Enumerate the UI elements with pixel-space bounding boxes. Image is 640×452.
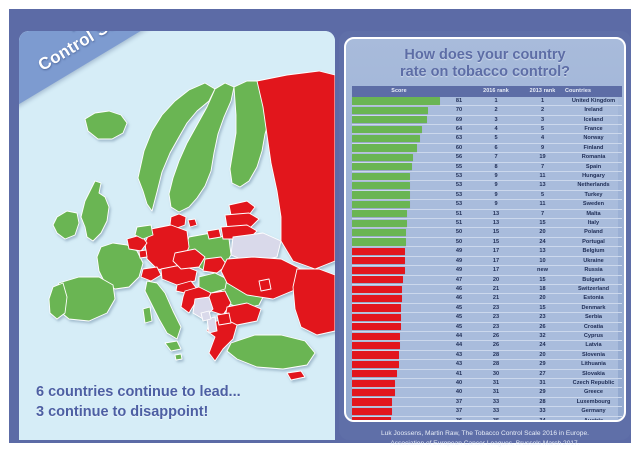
rank-2013-value: 24 bbox=[520, 341, 565, 350]
country-switzerland bbox=[141, 267, 161, 281]
score-value: 55 bbox=[446, 162, 472, 171]
rank-2013-value: 7 bbox=[520, 209, 565, 218]
rank-2013-value: 7 bbox=[520, 162, 565, 171]
country-name: Spain bbox=[565, 162, 622, 171]
country-name: Croatia bbox=[565, 322, 622, 331]
score-bar-cell bbox=[352, 256, 446, 265]
country-sardinia bbox=[143, 307, 152, 323]
table-row: 501524Portugal bbox=[352, 237, 622, 246]
rank-2013-value: 32 bbox=[520, 331, 565, 340]
rank-2016-value: 8 bbox=[472, 162, 520, 171]
table-row: 5587Spain bbox=[352, 162, 622, 171]
country-name: Greece bbox=[565, 388, 622, 397]
score-value: 49 bbox=[446, 256, 472, 265]
score-bar-cell bbox=[352, 407, 446, 416]
rank-2016-value: 20 bbox=[472, 275, 520, 284]
table-header-row: Score 2016 rank 2013 rank Countries bbox=[352, 86, 622, 97]
score-value: 51 bbox=[446, 209, 472, 218]
score-bar bbox=[352, 191, 410, 198]
ranking-table-wrapper: Score 2016 rank 2013 rank Countries 8111… bbox=[352, 86, 618, 422]
score-value: 53 bbox=[446, 172, 472, 181]
rank-2016-value: 31 bbox=[472, 378, 520, 387]
score-value: 45 bbox=[446, 303, 472, 312]
table-body: 8111United Kingdom7022Ireland6933Iceland… bbox=[352, 97, 622, 422]
country-name: Hungary bbox=[565, 172, 622, 181]
table-row: 511315Italy bbox=[352, 219, 622, 228]
table-header: Score 2016 rank 2013 rank Countries bbox=[352, 86, 622, 97]
country-name: Latvia bbox=[565, 341, 622, 350]
country-portugal bbox=[49, 283, 67, 319]
score-value: 37 bbox=[446, 397, 472, 406]
score-value: 43 bbox=[446, 360, 472, 369]
score-bar-cell bbox=[352, 209, 446, 218]
score-value: 64 bbox=[446, 125, 472, 134]
score-value: 49 bbox=[446, 266, 472, 275]
country-name: Portugal bbox=[565, 237, 622, 246]
score-bar-cell bbox=[352, 284, 446, 293]
score-bar-cell bbox=[352, 143, 446, 152]
table-row: 6069Finland bbox=[352, 143, 622, 152]
table-row: 491710Ukraine bbox=[352, 256, 622, 265]
rank-2013-value: new bbox=[520, 266, 565, 275]
rank-2016-value: 23 bbox=[472, 303, 520, 312]
country-name: Estonia bbox=[565, 294, 622, 303]
score-bar-cell bbox=[352, 237, 446, 246]
country-name: Denmark bbox=[565, 303, 622, 312]
country-name: Germany bbox=[565, 407, 622, 416]
country-macedonia bbox=[217, 313, 231, 325]
country-name: Czech Republic bbox=[565, 378, 622, 387]
score-value: 46 bbox=[446, 294, 472, 303]
rank-2013-value: 9 bbox=[520, 143, 565, 152]
rank-2016-value: 9 bbox=[472, 200, 520, 209]
score-value: 36 bbox=[446, 416, 472, 422]
score-bar-cell bbox=[352, 228, 446, 237]
table-row: 56719Romania bbox=[352, 153, 622, 162]
rank-2013-value: 34 bbox=[520, 416, 565, 422]
country-name: United Kingdom bbox=[565, 97, 622, 106]
rank-2013-value: 29 bbox=[520, 360, 565, 369]
score-value: 63 bbox=[446, 134, 472, 143]
rank-2016-value: 31 bbox=[472, 388, 520, 397]
country-name: Ireland bbox=[565, 106, 622, 115]
rank-2013-value: 24 bbox=[520, 237, 565, 246]
table-row: 6354Norway bbox=[352, 134, 622, 143]
rank-2016-value: 30 bbox=[472, 369, 520, 378]
score-bar-cell bbox=[352, 294, 446, 303]
rank-2016-value: 33 bbox=[472, 397, 520, 406]
score-bar bbox=[352, 286, 402, 293]
rank-2013-value: 19 bbox=[520, 153, 565, 162]
rank-2016-value: 15 bbox=[472, 237, 520, 246]
table-row: 5395Turkey bbox=[352, 190, 622, 199]
score-bar-cell bbox=[352, 369, 446, 378]
country-ireland bbox=[53, 211, 79, 239]
country-name: Lithuania bbox=[565, 360, 622, 369]
table-row: 373328Luxembourg bbox=[352, 397, 622, 406]
country-name: Malta bbox=[565, 209, 622, 218]
table-row: 462118Switzerland bbox=[352, 284, 622, 293]
table-row: 462120Estonia bbox=[352, 294, 622, 303]
rank-2016-value: 33 bbox=[472, 407, 520, 416]
rank-2013-value: 15 bbox=[520, 303, 565, 312]
score-bar bbox=[352, 229, 406, 236]
score-value: 60 bbox=[446, 143, 472, 152]
table-row: 452315Denmark bbox=[352, 303, 622, 312]
chart-panel: How does your country rate on tobacco co… bbox=[339, 31, 631, 440]
rank-2016-value: 7 bbox=[472, 153, 520, 162]
rank-2016-value: 21 bbox=[472, 294, 520, 303]
score-bar-cell bbox=[352, 134, 446, 143]
score-value: 50 bbox=[446, 237, 472, 246]
table-row: 491713Belgium bbox=[352, 247, 622, 256]
table-row: 413027Slovakia bbox=[352, 369, 622, 378]
country-russia-south bbox=[293, 269, 335, 335]
score-value: 81 bbox=[446, 97, 472, 106]
country-name: Iceland bbox=[565, 115, 622, 124]
rank-2016-value: 2 bbox=[472, 106, 520, 115]
table-row: 6933Iceland bbox=[352, 115, 622, 124]
score-value: 46 bbox=[446, 284, 472, 293]
score-bar bbox=[352, 182, 410, 189]
column-header-score-value bbox=[446, 86, 472, 97]
country-name: Slovenia bbox=[565, 350, 622, 359]
rank-2013-value: 5 bbox=[520, 125, 565, 134]
score-bar-cell bbox=[352, 125, 446, 134]
score-bar bbox=[352, 135, 420, 142]
score-value: 51 bbox=[446, 219, 472, 228]
rank-2016-value: 21 bbox=[472, 284, 520, 293]
table-row: 501520Poland bbox=[352, 228, 622, 237]
table-row: 403131Czech Republic bbox=[352, 378, 622, 387]
table-row: 53911Sweden bbox=[352, 200, 622, 209]
table-row: 8111United Kingdom bbox=[352, 97, 622, 106]
score-value: 69 bbox=[446, 115, 472, 124]
score-value: 40 bbox=[446, 388, 472, 397]
country-name: Luxembourg bbox=[565, 397, 622, 406]
rank-2013-value: 28 bbox=[520, 397, 565, 406]
score-bar bbox=[352, 267, 405, 274]
score-value: 50 bbox=[446, 228, 472, 237]
score-bar-cell bbox=[352, 322, 446, 331]
rank-2013-value: 23 bbox=[520, 313, 565, 322]
rank-2016-value: 17 bbox=[472, 256, 520, 265]
score-bar bbox=[352, 154, 413, 161]
rank-2016-value: 17 bbox=[472, 266, 520, 275]
country-luxembourg bbox=[139, 250, 147, 258]
country-name: Switzerland bbox=[565, 284, 622, 293]
chart-title: How does your country rate on tobacco co… bbox=[352, 47, 618, 82]
country-estonia bbox=[229, 201, 255, 215]
score-bar-cell bbox=[352, 360, 446, 369]
rank-2016-value: 26 bbox=[472, 341, 520, 350]
column-header-countries: Countries bbox=[565, 86, 622, 97]
score-bar bbox=[352, 398, 392, 405]
score-bar bbox=[352, 361, 399, 368]
score-bar-cell bbox=[352, 266, 446, 275]
rank-2013-value: 15 bbox=[520, 219, 565, 228]
table-row: 432829Lithuania bbox=[352, 360, 622, 369]
rank-2013-value: 26 bbox=[520, 322, 565, 331]
rank-2013-value: 4 bbox=[520, 134, 565, 143]
country-name: Sweden bbox=[565, 200, 622, 209]
rank-2013-value: 13 bbox=[520, 247, 565, 256]
score-value: 44 bbox=[446, 331, 472, 340]
rank-2016-value: 23 bbox=[472, 322, 520, 331]
score-bar bbox=[352, 342, 400, 349]
country-name: Bulgaria bbox=[565, 275, 622, 284]
score-bar-cell bbox=[352, 162, 446, 171]
country-name: Belgium bbox=[565, 247, 622, 256]
rank-2013-value: 20 bbox=[520, 228, 565, 237]
score-bar bbox=[352, 351, 399, 358]
score-value: 53 bbox=[446, 181, 472, 190]
score-bar-cell bbox=[352, 247, 446, 256]
rank-2016-value: 9 bbox=[472, 190, 520, 199]
country-name: Netherlands bbox=[565, 181, 622, 190]
column-header-score-bar: Score bbox=[352, 86, 446, 97]
rank-2016-value: 23 bbox=[472, 313, 520, 322]
score-bar bbox=[352, 417, 391, 422]
rank-2013-value: 13 bbox=[520, 181, 565, 190]
score-bar-cell bbox=[352, 115, 446, 124]
score-bar bbox=[352, 238, 406, 245]
country-name: Poland bbox=[565, 228, 622, 237]
score-bar-cell bbox=[352, 341, 446, 350]
score-bar bbox=[352, 380, 395, 387]
country-name: Austria bbox=[565, 416, 622, 422]
rank-2013-value: 10 bbox=[520, 256, 565, 265]
rank-2016-value: 13 bbox=[472, 209, 520, 218]
score-bar bbox=[352, 97, 440, 104]
score-value: 44 bbox=[446, 341, 472, 350]
rank-2013-value: 1 bbox=[520, 97, 565, 106]
score-value: 53 bbox=[446, 190, 472, 199]
score-value: 37 bbox=[446, 407, 472, 416]
score-bar bbox=[352, 304, 401, 311]
rank-2013-value: 27 bbox=[520, 369, 565, 378]
chart-card: How does your country rate on tobacco co… bbox=[344, 37, 626, 422]
score-bar bbox=[352, 248, 405, 255]
score-bar-cell bbox=[352, 350, 446, 359]
score-bar-cell bbox=[352, 303, 446, 312]
score-bar-cell bbox=[352, 153, 446, 162]
table-row: 363534Austria bbox=[352, 416, 622, 422]
score-bar bbox=[352, 389, 395, 396]
country-latvia bbox=[225, 213, 259, 227]
table-row: 442632Cyprus bbox=[352, 331, 622, 340]
rank-2016-value: 35 bbox=[472, 416, 520, 422]
column-header-rank-2016: 2016 rank bbox=[472, 86, 520, 97]
score-bar-cell bbox=[352, 200, 446, 209]
score-value: 53 bbox=[446, 200, 472, 209]
rank-2016-value: 5 bbox=[472, 134, 520, 143]
rank-2016-value: 9 bbox=[472, 181, 520, 190]
rank-2016-value: 1 bbox=[472, 97, 520, 106]
score-bar bbox=[352, 333, 400, 340]
rank-2016-value: 26 bbox=[472, 331, 520, 340]
table-row: 6445France bbox=[352, 125, 622, 134]
table-row: 7022Ireland bbox=[352, 106, 622, 115]
score-bar bbox=[352, 163, 412, 170]
score-bar-cell bbox=[352, 106, 446, 115]
score-bar-cell bbox=[352, 219, 446, 228]
table-row: 51137Malta bbox=[352, 209, 622, 218]
rank-2013-value: 29 bbox=[520, 388, 565, 397]
table-row: 403129Greece bbox=[352, 388, 622, 397]
score-bar-cell bbox=[352, 275, 446, 284]
score-bar-cell bbox=[352, 388, 446, 397]
score-bar bbox=[352, 107, 428, 114]
column-header-rank-2013: 2013 rank bbox=[520, 86, 565, 97]
score-bar bbox=[352, 276, 403, 283]
table-row: 373333Germany bbox=[352, 407, 622, 416]
country-iceland bbox=[85, 111, 127, 139]
score-bar bbox=[352, 144, 417, 151]
score-bar-cell bbox=[352, 190, 446, 199]
rank-2013-value: 20 bbox=[520, 294, 565, 303]
country-united-kingdom bbox=[81, 181, 109, 241]
rank-2013-value: 2 bbox=[520, 106, 565, 115]
rank-2016-value: 28 bbox=[472, 350, 520, 359]
country-name: Cyprus bbox=[565, 331, 622, 340]
country-name: Turkey bbox=[565, 190, 622, 199]
score-value: 56 bbox=[446, 153, 472, 162]
table-row: 472015Bulgaria bbox=[352, 275, 622, 284]
europe-map bbox=[19, 31, 335, 440]
rank-2016-value: 6 bbox=[472, 143, 520, 152]
score-value: 47 bbox=[446, 275, 472, 284]
table-row: 442624Latvia bbox=[352, 341, 622, 350]
map-panel: Tobacco Control Scale 2016 6 countries c… bbox=[19, 31, 335, 440]
score-value: 43 bbox=[446, 350, 472, 359]
table-row: 53913Netherlands bbox=[352, 181, 622, 190]
score-value: 45 bbox=[446, 322, 472, 331]
table-row: 53911Hungary bbox=[352, 172, 622, 181]
rank-2016-value: 9 bbox=[472, 172, 520, 181]
score-bar bbox=[352, 201, 410, 208]
country-denmark-islands bbox=[188, 219, 197, 227]
score-bar bbox=[352, 370, 397, 377]
rank-2013-value: 3 bbox=[520, 115, 565, 124]
score-bar-cell bbox=[352, 331, 446, 340]
country-name: Italy bbox=[565, 219, 622, 228]
country-name: Ukraine bbox=[565, 256, 622, 265]
score-value: 49 bbox=[446, 247, 472, 256]
score-bar bbox=[352, 295, 402, 302]
country-name: Finland bbox=[565, 143, 622, 152]
country-name: Slovakia bbox=[565, 369, 622, 378]
score-value: 45 bbox=[446, 313, 472, 322]
table-row: 452326Croatia bbox=[352, 322, 622, 331]
rank-2016-value: 4 bbox=[472, 125, 520, 134]
rank-2016-value: 28 bbox=[472, 360, 520, 369]
score-value: 70 bbox=[446, 106, 472, 115]
country-russia-kaliningrad bbox=[207, 229, 221, 239]
chart-footnote: Luk Joossens, Martin Raw, The Tobacco Co… bbox=[347, 429, 623, 449]
score-bar bbox=[352, 408, 392, 415]
rank-2013-value: 33 bbox=[520, 407, 565, 416]
score-bar-cell bbox=[352, 172, 446, 181]
score-bar bbox=[352, 210, 407, 217]
country-name: France bbox=[565, 125, 622, 134]
table-row: 4917newRussia bbox=[352, 266, 622, 275]
rank-2016-value: 3 bbox=[472, 115, 520, 124]
table-row: 452323Serbia bbox=[352, 313, 622, 322]
score-bar-cell bbox=[352, 313, 446, 322]
rank-2013-value: 11 bbox=[520, 200, 565, 209]
country-montenegro bbox=[201, 311, 211, 321]
country-name: Russia bbox=[565, 266, 622, 275]
score-bar-cell bbox=[352, 416, 446, 422]
rank-2013-value: 5 bbox=[520, 190, 565, 199]
poster-root: Tobacco Control Scale 2016 6 countries c… bbox=[0, 0, 640, 452]
score-bar bbox=[352, 116, 427, 123]
rank-2016-value: 17 bbox=[472, 247, 520, 256]
score-value: 41 bbox=[446, 369, 472, 378]
map-caption: 6 countries continue to lead... 3 contin… bbox=[36, 382, 241, 422]
rank-2013-value: 11 bbox=[520, 172, 565, 181]
ranking-table: Score 2016 rank 2013 rank Countries 8111… bbox=[352, 86, 622, 422]
score-bar bbox=[352, 126, 422, 133]
country-moldova bbox=[259, 279, 271, 291]
country-name: Norway bbox=[565, 134, 622, 143]
table-row: 432820Slovenia bbox=[352, 350, 622, 359]
score-bar bbox=[352, 257, 405, 264]
rank-2013-value: 18 bbox=[520, 284, 565, 293]
rank-2016-value: 13 bbox=[472, 219, 520, 228]
rank-2013-value: 15 bbox=[520, 275, 565, 284]
score-bar-cell bbox=[352, 378, 446, 387]
score-bar-cell bbox=[352, 97, 446, 106]
rank-2013-value: 20 bbox=[520, 350, 565, 359]
score-bar bbox=[352, 220, 407, 227]
score-bar bbox=[352, 314, 401, 321]
country-name: Serbia bbox=[565, 313, 622, 322]
score-bar-cell bbox=[352, 397, 446, 406]
country-name: Romania bbox=[565, 153, 622, 162]
rank-2016-value: 15 bbox=[472, 228, 520, 237]
score-bar bbox=[352, 173, 410, 180]
rank-2013-value: 31 bbox=[520, 378, 565, 387]
score-bar bbox=[352, 323, 401, 330]
score-bar-cell bbox=[352, 181, 446, 190]
score-value: 40 bbox=[446, 378, 472, 387]
